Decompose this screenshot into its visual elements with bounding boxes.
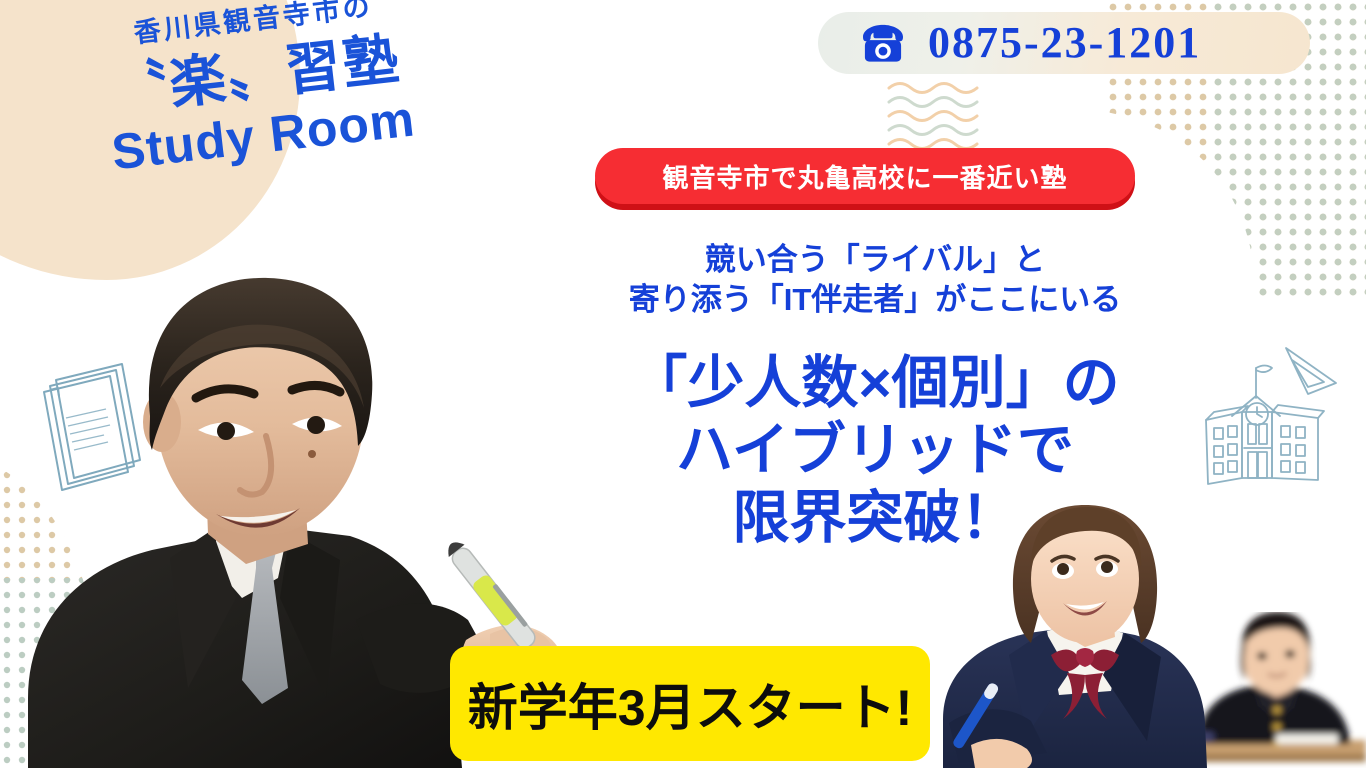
badge-red: 観音寺市で丸亀高校に一番近い塾 xyxy=(595,148,1135,204)
headline: 「少人数×個別」の ハイブリッドで 限界突破！ xyxy=(575,350,1175,552)
start-date-banner[interactable]: 新学年3月スタート! xyxy=(450,646,930,761)
headline-line-1: 「少人数×個別」の xyxy=(575,350,1175,417)
telephone-icon xyxy=(860,23,906,63)
sub-copy-line-1: 競い合う「ライバル」と xyxy=(575,240,1175,280)
sub-copy: 競い合う「ライバル」と 寄り添う「IT伴走者」がここにいる xyxy=(575,240,1175,319)
sub-copy-line-2: 寄り添う「IT伴走者」がここにいる xyxy=(575,280,1175,320)
school-building-doodle-icon xyxy=(1168,338,1358,513)
logo-block: 香川県観音寺市の 〝楽〟習塾 Study Room xyxy=(40,0,475,186)
phone-number[interactable]: 0875-23-1201 xyxy=(928,21,1201,65)
badge-red-body: 観音寺市で丸亀高校に一番近い塾 xyxy=(595,148,1135,204)
phone-contact[interactable]: 0875-23-1201 xyxy=(818,12,1310,74)
wavy-lines-decoration xyxy=(885,78,1015,148)
headline-line-2: ハイブリッドで xyxy=(575,417,1175,484)
badge-text: 観音寺市で丸亀高校に一番近い塾 xyxy=(662,158,1067,195)
ad-banner: 0875-23-1201 香川県観音寺市の 〝楽〟習塾 Study Room xyxy=(0,0,1366,768)
headline-line-3: 限界突破！ xyxy=(575,485,1175,552)
start-date-banner-text: 新学年3月スタート! xyxy=(468,668,912,740)
